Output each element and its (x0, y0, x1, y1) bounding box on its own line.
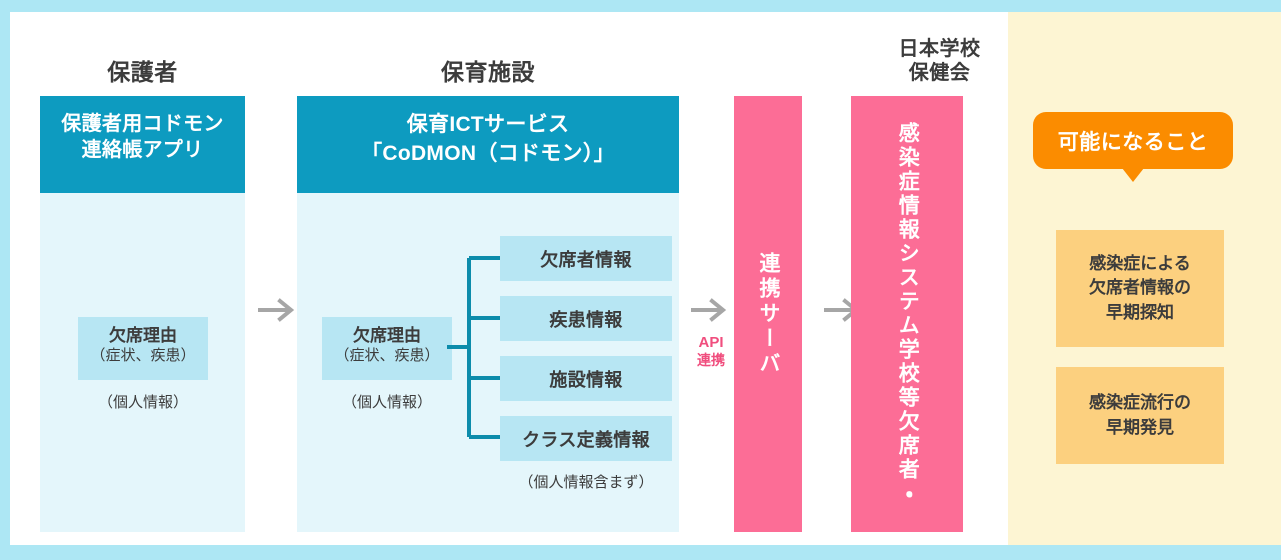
integration-server-label: 連携サーバ (753, 252, 783, 377)
heading-facility: 保育施設 (297, 59, 679, 86)
heading-jsha-line1: 日本学校 (899, 38, 981, 60)
guardian-app-title-line2: 連絡帳アプリ (40, 137, 245, 163)
benefits-bubble-label: 可能になること (1058, 126, 1209, 156)
infographic-root: 可能になること 感染症による 欠席者情報の 早期探知 感染症流行の 早期発見 保… (0, 0, 1281, 560)
benefit-line-2: 欠席者情報の (1089, 276, 1191, 300)
guardian-privacy-note: （個人情報） (68, 391, 218, 412)
heading-guardian: 保護者 (40, 59, 245, 86)
guardian-app-title-line1: 保護者用コドモン (61, 113, 223, 135)
api-integration-label: API 連携 (682, 334, 740, 368)
benefit-line-1: 感染症流行の (1089, 391, 1191, 415)
benefit-box: 感染症流行の 早期発見 (1056, 367, 1224, 464)
jsha-system-label-col1: 学校等欠席者・ (891, 338, 924, 506)
guardian-absence-reason-title: 欠席理由 (78, 326, 208, 345)
facility-service-title-line2: 「CoDMON（コドモン）」 (297, 140, 679, 169)
api-label-line2: 連携 (682, 352, 740, 369)
facility-absence-reason-card: 欠席理由 （症状、疾患） (322, 317, 452, 380)
facility-privacy-note: （個人情報） (312, 391, 462, 412)
facility-nonprivacy-note: （個人情報含まず） (487, 471, 685, 492)
benefits-panel: 可能になること 感染症による 欠席者情報の 早期探知 感染症流行の 早期発見 (1008, 12, 1281, 545)
guardian-app-header: 保護者用コドモン 連絡帳アプリ (40, 96, 245, 193)
jsha-system-column: 感染症情報システム 学校等欠席者・ (851, 96, 963, 532)
facility-absence-reason-title: 欠席理由 (322, 326, 452, 345)
data-box-absentee-info: 欠席者情報 (500, 236, 672, 281)
guardian-column: 保護者用コドモン 連絡帳アプリ 欠席理由 （症状、疾患） （個人情報） (40, 96, 245, 532)
data-box-label: クラス定義情報 (522, 426, 650, 452)
heading-jsha: 日本学校 保健会 (837, 38, 1042, 85)
arrow-guardian-to-facility-icon (256, 295, 298, 330)
guardian-absence-reason-card: 欠席理由 （症状、疾患） (78, 317, 208, 380)
heading-jsha-line2: 保健会 (909, 62, 971, 84)
benefits-bubble: 可能になること (1033, 112, 1233, 169)
data-box-label: 疾患情報 (549, 306, 622, 332)
benefit-line-2: 早期発見 (1089, 416, 1191, 440)
diagram-canvas: 可能になること 感染症による 欠席者情報の 早期探知 感染症流行の 早期発見 保… (10, 12, 1281, 545)
data-box-facility-info: 施設情報 (500, 356, 672, 401)
data-box-disease-info: 疾患情報 (500, 296, 672, 341)
integration-server-column: 連携サーバ (734, 96, 802, 532)
connector-tree-icon (447, 226, 507, 466)
data-box-label: 施設情報 (549, 366, 622, 392)
data-box-label: 欠席者情報 (540, 246, 632, 272)
facility-service-header: 保育ICTサービス 「CoDMON（コドモン）」 (297, 96, 679, 193)
facility-column: 保育ICTサービス 「CoDMON（コドモン）」 欠席理由 （症状、疾患） （個… (297, 96, 679, 532)
facility-absence-reason-sub: （症状、疾患） (322, 346, 452, 366)
facility-service-title-line1: 保育ICTサービス (407, 113, 570, 136)
jsha-system-label-col2: 感染症情報システム (891, 122, 924, 338)
api-label-line1: API (698, 334, 723, 351)
arrow-facility-to-server-icon (690, 295, 730, 330)
benefit-line-3: 早期探知 (1089, 301, 1191, 325)
benefit-line-1: 感染症による (1089, 252, 1191, 276)
data-box-class-definition-info: クラス定義情報 (500, 416, 672, 461)
benefit-box: 感染症による 欠席者情報の 早期探知 (1056, 230, 1224, 347)
guardian-absence-reason-sub: （症状、疾患） (78, 346, 208, 366)
